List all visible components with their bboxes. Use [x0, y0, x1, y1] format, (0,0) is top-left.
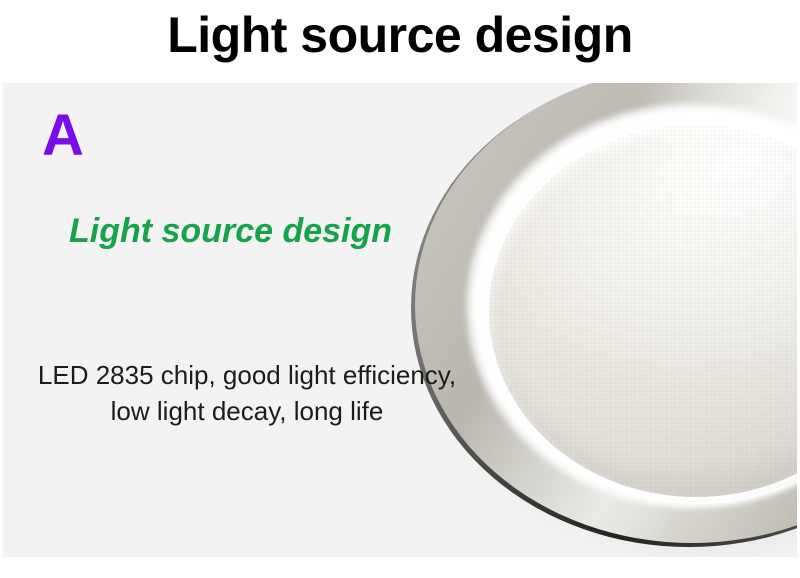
content-panel: A Light source design LED 2835 chip, goo…	[3, 83, 797, 557]
title-band: Light source design	[0, 0, 800, 82]
page-title: Light source design	[0, 4, 800, 66]
section-body-text: LED 2835 chip, good light efficiency, lo…	[17, 357, 477, 429]
body-line-2: low light decay, long life	[17, 393, 477, 429]
product-photo-led-downlight	[3, 83, 797, 557]
section-subtitle: Light source design	[69, 211, 392, 251]
product-detail-banner: Light source design A Light source desig…	[0, 0, 800, 578]
body-line-1: LED 2835 chip, good light efficiency,	[17, 357, 477, 393]
section-letter-a: A	[42, 107, 84, 165]
